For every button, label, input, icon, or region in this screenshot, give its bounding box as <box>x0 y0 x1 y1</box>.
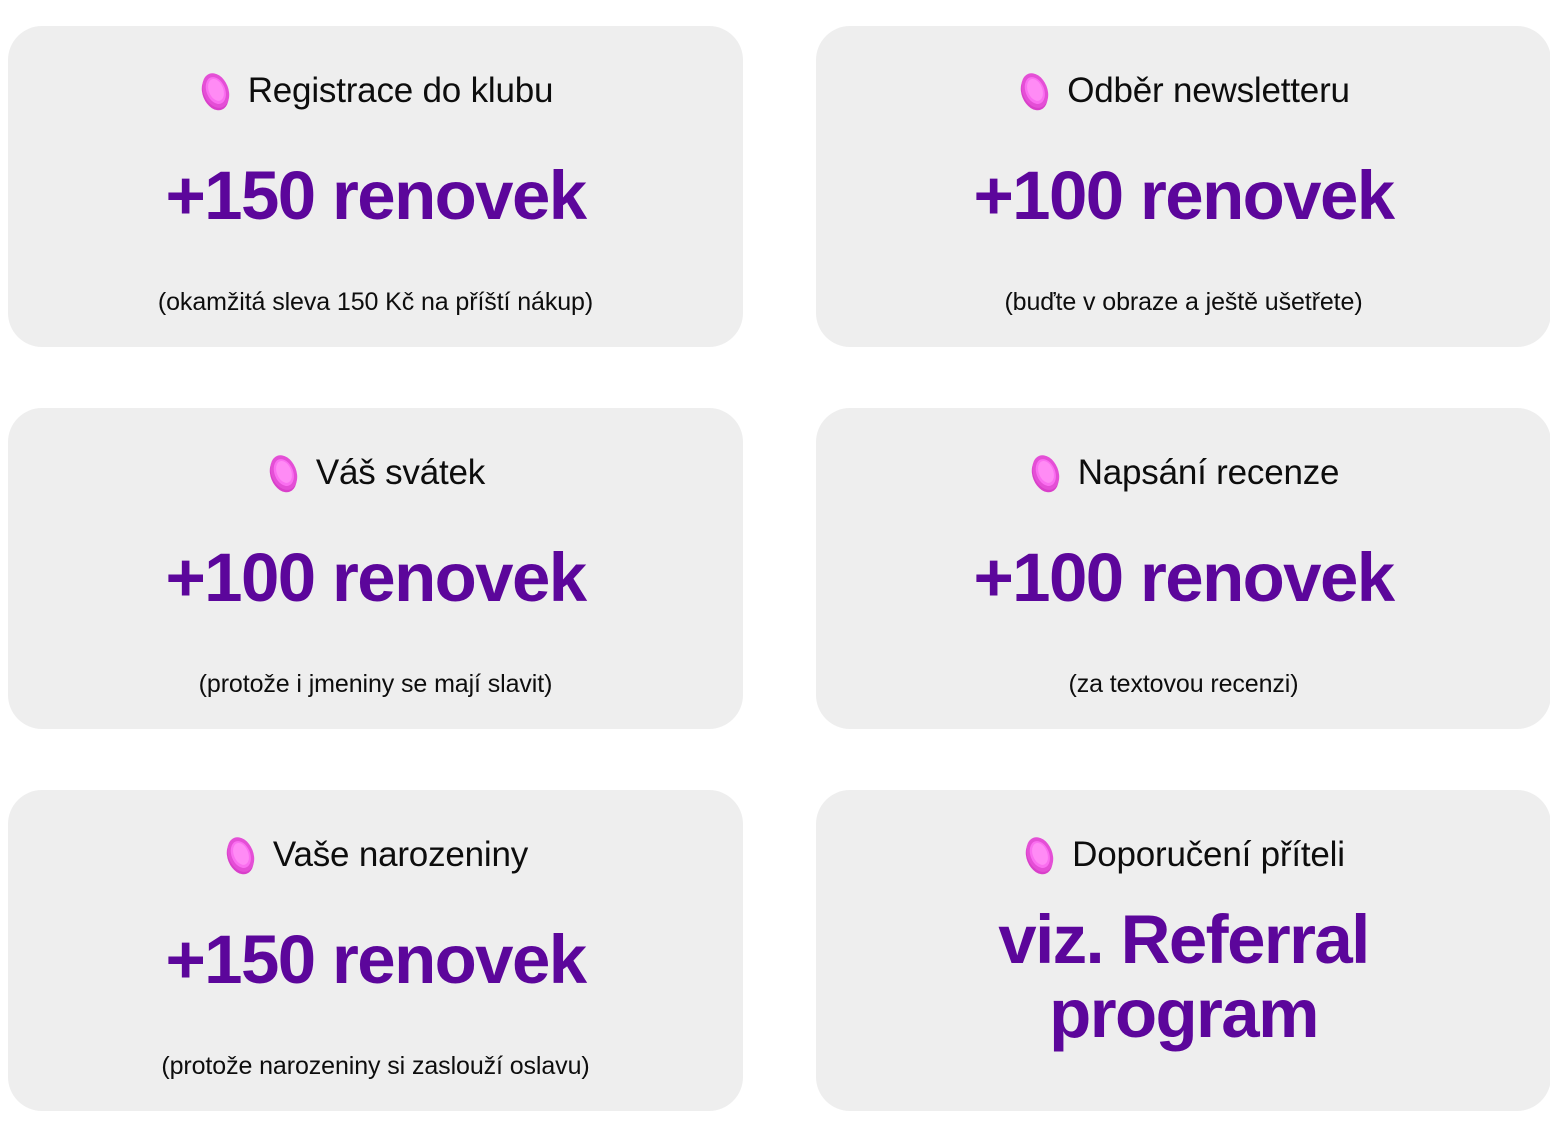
card-title: Váš svátek <box>316 453 485 492</box>
card-title: Doporučení příteli <box>1072 835 1345 874</box>
benefit-card: Doporučení příteli viz. Referral program <box>816 790 1550 1111</box>
card-amount: +100 renovek <box>973 541 1393 615</box>
card-header: Odběr newsletteru <box>844 68 1523 114</box>
card-header: Registrace do klubu <box>36 68 715 114</box>
card-amount: +150 renovek <box>165 923 585 997</box>
coin-icon <box>198 68 234 114</box>
card-header: Napsání recenze <box>844 450 1523 496</box>
card-title: Registrace do klubu <box>248 71 554 110</box>
card-note: (buďte v obraze a ještě ušetřete) <box>1004 287 1362 317</box>
card-note: (protože i jmeniny se mají slavit) <box>199 669 553 699</box>
card-note: (za textovou recenzi) <box>1069 669 1299 699</box>
coin-icon <box>266 450 302 496</box>
coin-icon <box>1022 832 1058 878</box>
card-amount: +100 renovek <box>165 541 585 615</box>
card-title: Odběr newsletteru <box>1067 71 1350 110</box>
card-header: Váš svátek <box>36 450 715 496</box>
card-title: Vaše narozeniny <box>273 835 528 874</box>
benefit-card: Odběr newsletteru +100 renovek (buďte v … <box>816 26 1550 347</box>
coin-icon <box>223 832 259 878</box>
card-amount: +100 renovek <box>973 159 1393 233</box>
benefit-card: Vaše narozeniny +150 renovek (protože na… <box>8 790 743 1111</box>
card-header: Vaše narozeniny <box>36 832 715 878</box>
card-title: Napsání recenze <box>1078 453 1340 492</box>
benefit-card: Váš svátek +100 renovek (protože i jmeni… <box>8 408 743 729</box>
card-note: (okamžitá sleva 150 Kč na příští nákup) <box>158 287 593 317</box>
benefit-card: Registrace do klubu +150 renovek (okamži… <box>8 26 743 347</box>
benefit-card-grid: Registrace do klubu +150 renovek (okamži… <box>0 0 1550 1148</box>
card-note: (protože narozeniny si zaslouží oslavu) <box>161 1051 589 1081</box>
coin-icon <box>1017 68 1053 114</box>
card-amount: viz. Referral program <box>964 903 1404 1051</box>
coin-icon <box>1028 450 1064 496</box>
card-header: Doporučení příteli <box>844 832 1523 878</box>
card-amount: +150 renovek <box>165 159 585 233</box>
benefit-card: Napsání recenze +100 renovek (za textovo… <box>816 408 1550 729</box>
